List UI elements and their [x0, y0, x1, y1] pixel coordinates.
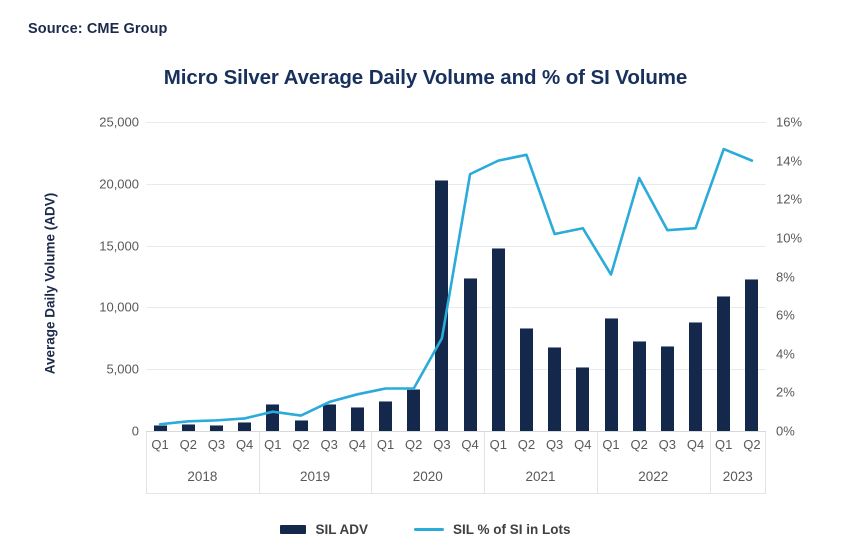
x-axis-year-separator [259, 432, 260, 494]
x-axis-year-separator [710, 432, 711, 494]
chart-canvas: Average Daily Volume (ADV) SIL Volume as… [0, 0, 851, 557]
y-axis-right-tick-label: 12% [776, 192, 802, 207]
y-axis-right-tick-label: 2% [776, 385, 795, 400]
legend-item-sil-adv: SIL ADV [280, 522, 368, 537]
x-axis-quarter-label: Q2 [625, 432, 653, 458]
x-axis-year-label: 2018 [146, 462, 259, 492]
x-axis-quarter-label: Q2 [400, 432, 428, 458]
y-axis-right-tick-label: 4% [776, 346, 795, 361]
x-axis-quarter-label: Q3 [315, 432, 343, 458]
y-axis-right-tick-label: 0% [776, 424, 795, 439]
y-axis-right-tick-label: 8% [776, 269, 795, 284]
y-axis-left-tick-label: 25,000 [99, 115, 139, 130]
legend-bar-swatch-icon [280, 525, 306, 534]
line-series [146, 122, 766, 431]
x-axis-quarter-label: Q3 [653, 432, 681, 458]
x-axis-year-separator [597, 432, 598, 494]
x-axis-year-separator [484, 432, 485, 494]
x-axis-quarter-label: Q2 [174, 432, 202, 458]
y-axis-right-tick-label: 14% [776, 153, 802, 168]
chart-legend: SIL ADV SIL % of SI in Lots [0, 522, 851, 537]
legend-line-swatch-icon [414, 528, 444, 531]
x-axis-quarter-label: Q1 [484, 432, 512, 458]
legend-label-sil-adv: SIL ADV [315, 522, 368, 537]
y-axis-right-tick-label: 10% [776, 230, 802, 245]
y-axis-left-tick-label: 20,000 [99, 176, 139, 191]
y-axis-left-title: Average Daily Volume (ADV) [43, 174, 58, 394]
x-axis-quarter-label: Q4 [231, 432, 259, 458]
x-axis-quarter-label: Q3 [202, 432, 230, 458]
legend-label-sil-pct: SIL % of SI in Lots [453, 522, 571, 537]
y-axis-left-tick-label: 10,000 [99, 300, 139, 315]
x-axis-quarter-label: Q1 [371, 432, 399, 458]
y-axis-left-tick-label: 0 [132, 424, 139, 439]
y-axis-left-tick-label: 5,000 [106, 362, 139, 377]
line-path [160, 149, 752, 424]
x-axis-year-separator [371, 432, 372, 494]
x-axis-year-label: 2020 [371, 462, 484, 492]
x-axis-quarter-label: Q1 [259, 432, 287, 458]
x-axis-year-label: 2022 [597, 462, 710, 492]
x-axis-quarter-label: Q4 [569, 432, 597, 458]
x-axis-quarter-label: Q3 [541, 432, 569, 458]
plot-area [146, 122, 766, 431]
legend-item-sil-pct: SIL % of SI in Lots [414, 522, 571, 537]
x-axis-quarter-label: Q2 [287, 432, 315, 458]
x-axis-year-label: 2023 [710, 462, 766, 492]
y-axis-left-tick-label: 15,000 [99, 238, 139, 253]
x-axis-quarter-label: Q1 [710, 432, 738, 458]
x-axis-quarter-label: Q2 [738, 432, 766, 458]
x-axis: Q1Q2Q3Q42018Q1Q2Q3Q42019Q1Q2Q3Q42020Q1Q2… [146, 432, 766, 494]
x-axis-quarter-label: Q2 [512, 432, 540, 458]
x-axis-year-label: 2021 [484, 462, 597, 492]
x-axis-quarter-label: Q3 [428, 432, 456, 458]
y-axis-right-tick-label: 6% [776, 308, 795, 323]
x-axis-quarter-label: Q4 [343, 432, 371, 458]
x-axis-quarter-label: Q1 [597, 432, 625, 458]
y-axis-right-tick-label: 16% [776, 115, 802, 130]
y-axis-left-ticks: 25,00020,00015,00010,0005,0000 [75, 0, 145, 557]
y-axis-right-ticks: 16%14%12%10%8%6%4%2%0% [772, 0, 842, 557]
x-axis-quarter-label: Q4 [681, 432, 709, 458]
x-axis-year-label: 2019 [259, 462, 372, 492]
x-axis-quarter-label: Q4 [456, 432, 484, 458]
x-axis-quarter-label: Q1 [146, 432, 174, 458]
